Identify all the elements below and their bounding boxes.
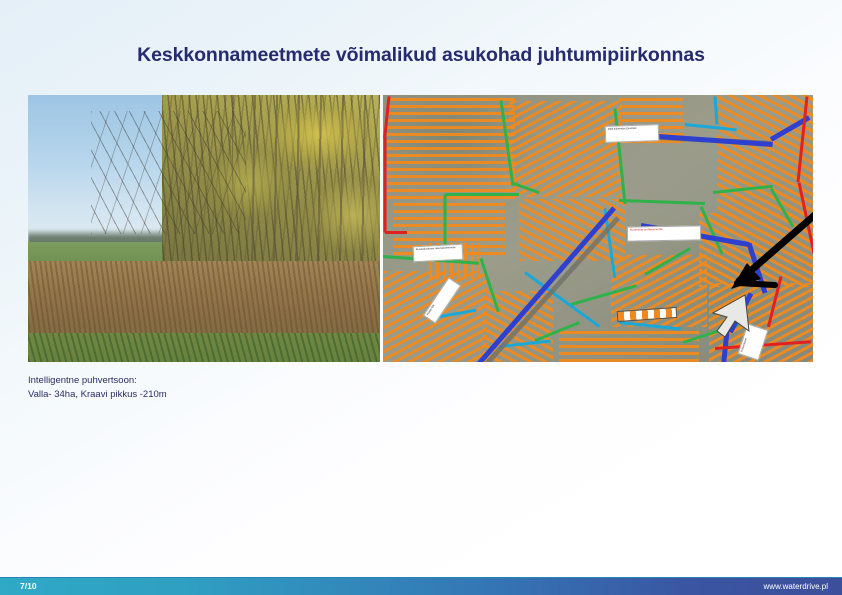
- field-photo: [28, 95, 380, 362]
- map-red-boundary: [384, 137, 387, 233]
- website-url[interactable]: www.waterdrive.pl: [764, 582, 828, 591]
- caption-line-2: Valla- 34ha, Kraavi pikkus -210m: [28, 388, 167, 402]
- photo-bare-branches: [91, 111, 246, 234]
- caption-line-1: Intelligentne puhvertsoon:: [28, 374, 167, 388]
- map-label-left-callout: Kuivenduskraav rekonstrueerimine: [413, 244, 464, 263]
- map-parcel: [559, 331, 699, 362]
- map-label-text: Olek kuivendus Eesmärk: [608, 127, 637, 131]
- photo-green-grass: [28, 333, 380, 362]
- map-label-text: Puhvertsoon: [740, 338, 747, 353]
- map-label-text: Kuivenduse probleemne lõik: [630, 228, 663, 232]
- map-red-boundary: [385, 231, 407, 234]
- map-parcel: [509, 101, 621, 197]
- map-label-top-right: Olek kuivendus Eesmärk: [605, 124, 660, 143]
- page-number: 7/10: [20, 581, 37, 591]
- map-parcel: [387, 95, 515, 199]
- slide-footer: 7/10 www.waterdrive.pl: [0, 577, 842, 595]
- slide-root: Keskkonnameetmete võimalikud asukohad ju…: [0, 0, 842, 595]
- map-label-red-warning: Kuivenduse probleemne lõik: [627, 225, 701, 241]
- drainage-map: Olek kuivendus Eesmärk Kuivenduskraav re…: [383, 95, 813, 362]
- map-label-text: Kuivenduskraav rekonstrueerimine: [416, 246, 456, 251]
- image-caption: Intelligentne puhvertsoon: Valla- 34ha, …: [28, 374, 167, 402]
- map-green-ditch: [445, 193, 519, 196]
- page-title: Keskkonnameetmete võimalikud asukohad ju…: [0, 44, 842, 67]
